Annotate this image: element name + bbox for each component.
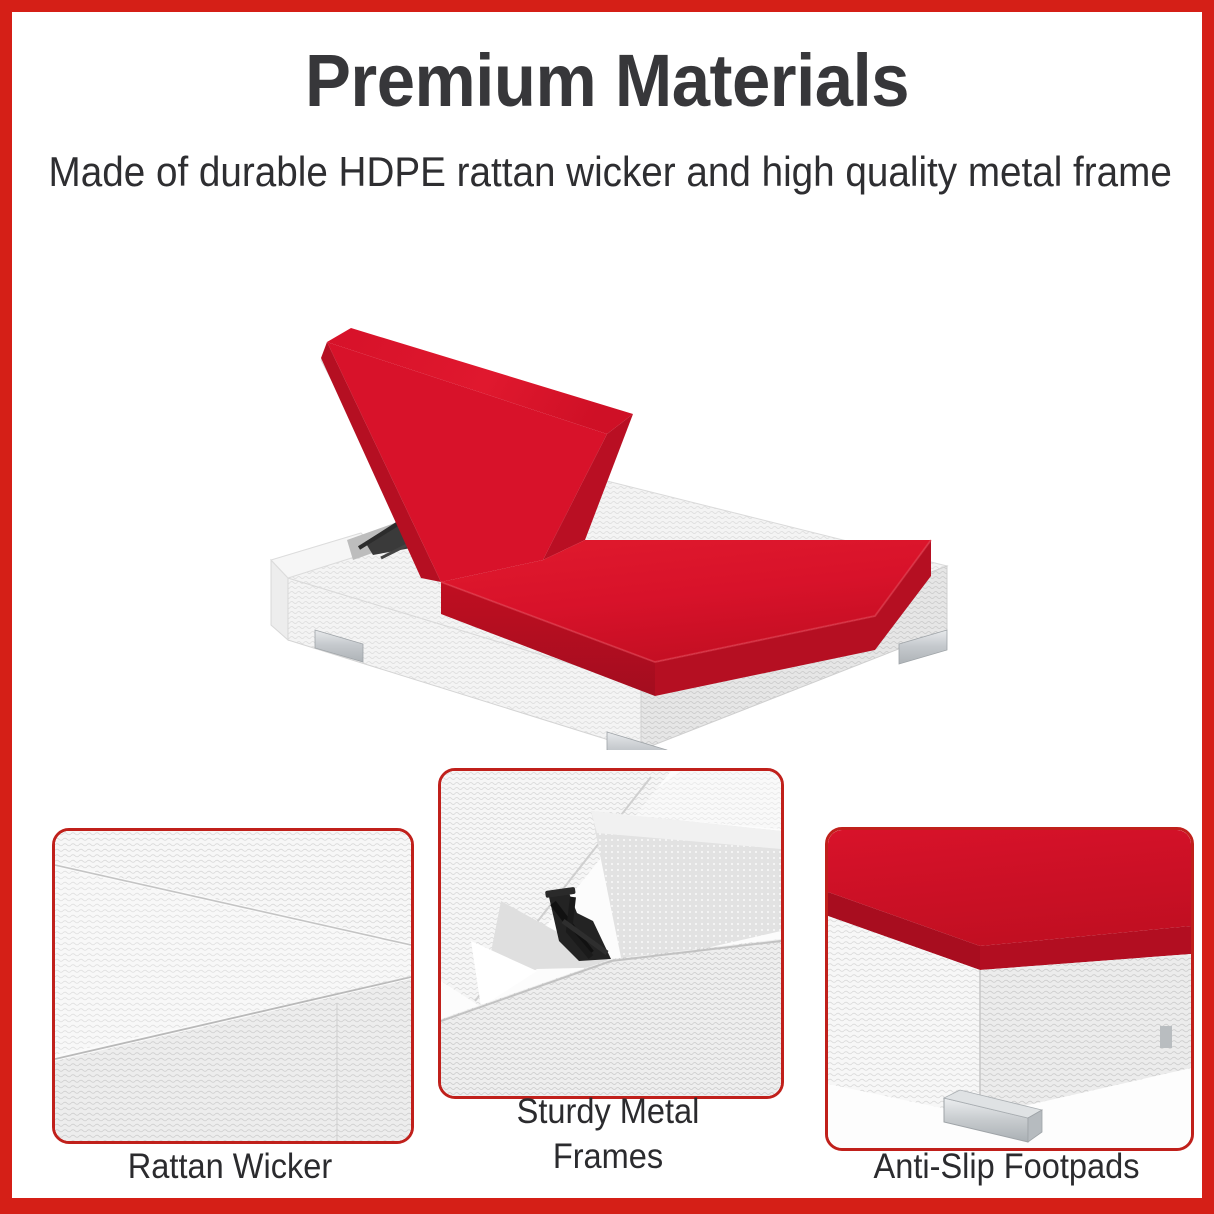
frame-border-bottom [0, 1198, 1214, 1214]
caption-rattan-wicker: Rattan Wicker [64, 1145, 395, 1190]
caption-line: Rattan Wicker [64, 1145, 395, 1190]
feature-panel-rattan-wicker [52, 828, 414, 1144]
metal-frame-closeup-image [441, 771, 781, 1096]
caption-metal-frames: Sturdy Metal Frames [450, 1090, 766, 1180]
footpad-closeup-image [828, 830, 1191, 1148]
feature-panel-footpads [825, 827, 1194, 1151]
infographic-page: Premium Materials Made of durable HDPE r… [0, 0, 1214, 1214]
chaise-lounger-illustration [255, 210, 975, 750]
frame-border-top [0, 0, 1214, 12]
feature-panel-metal-frames [438, 768, 784, 1099]
page-title: Premium Materials [42, 38, 1171, 123]
frame-border-right [1202, 0, 1214, 1214]
rattan-wicker-closeup-image [55, 831, 411, 1141]
caption-line: Sturdy Metal [450, 1090, 766, 1135]
caption-line: Frames [450, 1135, 766, 1180]
frame-border-left [0, 0, 12, 1214]
caption-line: Anti-Slip Footpads [838, 1145, 1176, 1190]
page-subtitle: Made of durable HDPE rattan wicker and h… [49, 148, 1166, 196]
hero-product-image [255, 210, 975, 750]
base-bracket [1160, 1026, 1172, 1048]
caption-footpads: Anti-Slip Footpads [838, 1145, 1176, 1190]
